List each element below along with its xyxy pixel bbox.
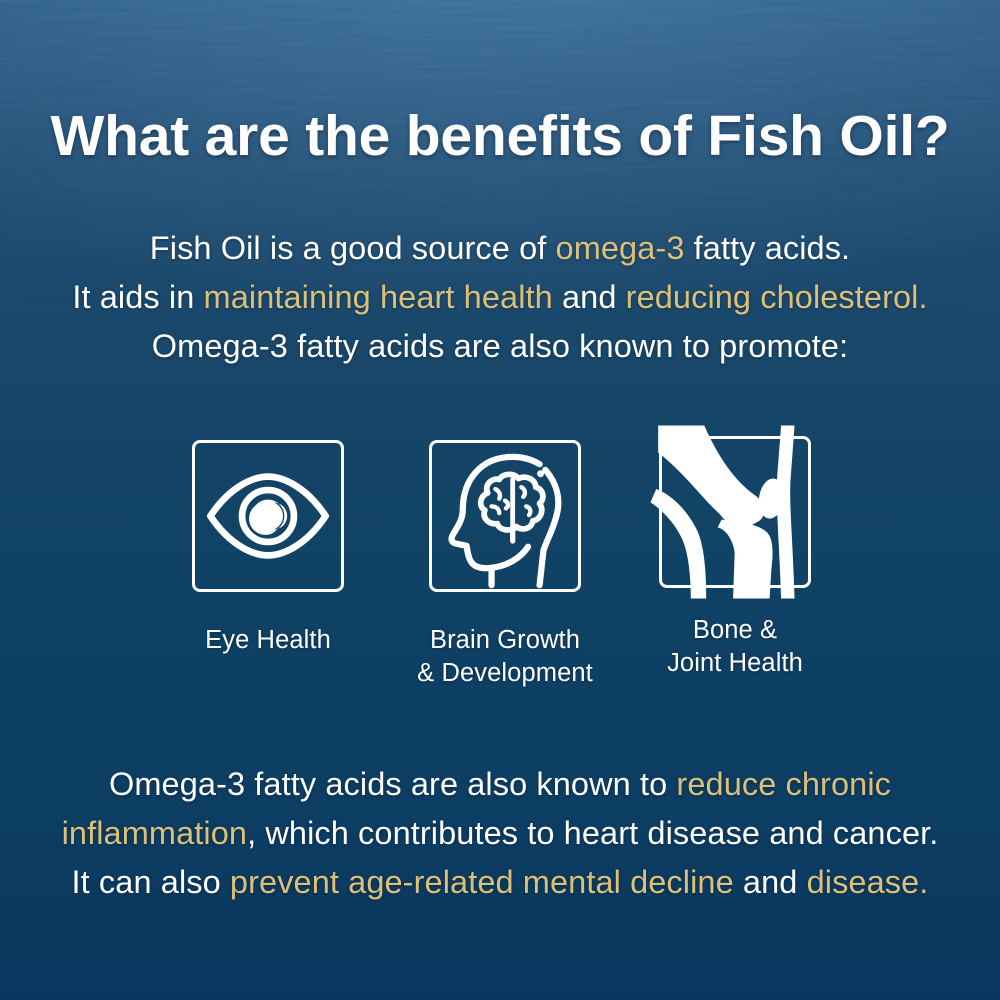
page-title: What are the benefits of Fish Oil? bbox=[0, 102, 1000, 170]
intro-line-2: It aids in maintaining heart health and … bbox=[0, 273, 1000, 322]
intro-line-2-highlight-cholesterol: reducing cholesterol. bbox=[626, 279, 928, 315]
intro-line-3-text: Omega-3 fatty acids are also known to pr… bbox=[152, 328, 848, 364]
outro-line-1-highlight-reduce-chronic: reduce chronic bbox=[676, 766, 891, 802]
intro-line-2-text-b: and bbox=[553, 279, 626, 315]
outro-line-3: It can also prevent age-related mental d… bbox=[0, 858, 1000, 907]
outro-line-2-highlight-inflammation: inflammation bbox=[62, 815, 247, 851]
outro-line-3-highlight-disease: disease. bbox=[807, 864, 929, 900]
eye-icon-frame bbox=[192, 440, 344, 592]
eye-icon bbox=[195, 443, 341, 589]
benefit-item-eye-health: Eye Health bbox=[158, 440, 378, 657]
intro-paragraph: Fish Oil is a good source of omega-3 fat… bbox=[0, 224, 1000, 371]
outro-line-3-highlight-mental-decline: prevent age-related mental decline bbox=[230, 864, 734, 900]
benefit-label-line-1: Eye Health bbox=[158, 624, 378, 657]
intro-line-1-text-a: Fish Oil is a good source of bbox=[150, 230, 556, 266]
outro-paragraph: Omega-3 fatty acids are also known to re… bbox=[0, 760, 1000, 907]
benefit-label-line-2: & Development bbox=[395, 657, 615, 690]
benefit-label-bone-joint-health: Bone & Joint Health bbox=[625, 614, 845, 680]
fish-oil-benefits-poster: What are the benefits of Fish Oil? Fish … bbox=[0, 0, 1000, 1000]
benefits-list: Eye Health bbox=[0, 440, 1000, 700]
outro-line-2: inflammation, which contributes to heart… bbox=[0, 809, 1000, 858]
benefit-item-brain-growth: Brain Growth & Development bbox=[395, 440, 615, 690]
intro-line-2-highlight-heart-health: maintaining heart health bbox=[204, 279, 553, 315]
benefit-label-brain-growth: Brain Growth & Development bbox=[395, 624, 615, 690]
brain-head-icon bbox=[432, 443, 578, 589]
intro-line-1-highlight-omega3: omega-3 bbox=[556, 230, 685, 266]
outro-line-3-text-a: It can also bbox=[72, 864, 230, 900]
intro-line-1: Fish Oil is a good source of omega-3 fat… bbox=[0, 224, 1000, 273]
outro-line-2-text-a: , which contributes to heart disease and… bbox=[247, 815, 938, 851]
benefit-label-line-1: Bone & bbox=[625, 614, 845, 647]
benefit-label-line-1: Brain Growth bbox=[395, 624, 615, 657]
knee-joint-icon bbox=[662, 439, 808, 585]
outro-line-3-text-b: and bbox=[734, 864, 807, 900]
intro-line-3: Omega-3 fatty acids are also known to pr… bbox=[0, 322, 1000, 371]
brain-head-icon-frame bbox=[429, 440, 581, 592]
intro-line-2-text-a: It aids in bbox=[72, 279, 203, 315]
benefit-label-line-2: Joint Health bbox=[625, 647, 845, 680]
knee-joint-icon-frame bbox=[659, 436, 811, 588]
benefit-label-eye-health: Eye Health bbox=[158, 624, 378, 657]
intro-line-1-text-b: fatty acids. bbox=[685, 230, 851, 266]
outro-line-1-text-a: Omega-3 fatty acids are also known to bbox=[109, 766, 676, 802]
outro-line-1: Omega-3 fatty acids are also known to re… bbox=[0, 760, 1000, 809]
benefit-item-bone-joint-health: Bone & Joint Health bbox=[625, 440, 845, 680]
